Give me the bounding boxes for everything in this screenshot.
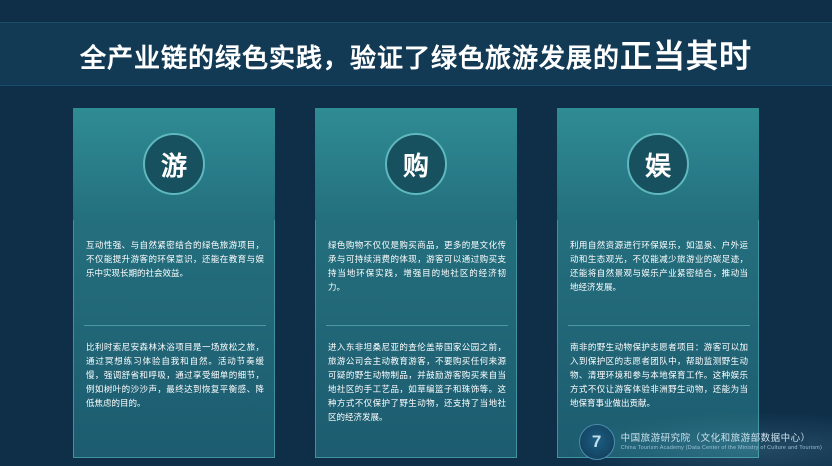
column-you: 游 互动性强、与自然紧密结合的绿色旅游项目，不仅能提升游客的环保意识，还能在教育… [73, 108, 275, 458]
column-you-paragraph-bottom: 比利时索尼安森林沐浴项目是一场放松之旅，通过冥想练习体验自我和自然。活动节奏缓慢… [74, 330, 276, 420]
organization-footer: 7 中国旅游研究院（文化和旅游部数据中心） China Tourism Acad… [579, 424, 822, 460]
circle-badge-icon: 购 [385, 133, 447, 195]
column-you-paragraph-top: 互动性强、与自然紧密结合的绿色旅游项目，不仅能提升游客的环保意识，还能在教育与娱… [74, 228, 276, 290]
column-gou-header: 购 [315, 108, 517, 220]
column-gou-paragraph-bottom: 进入东非坦桑尼亚的查伦盖蒂国家公园之前，旅游公司会主动教育游客，不要购买任何来源… [316, 330, 518, 434]
column-yu-badge-label: 娱 [645, 146, 671, 183]
circle-badge-icon: 娱 [627, 133, 689, 195]
logo-glyph: 7 [592, 432, 601, 452]
page-title-main: 全产业链的绿色实践，验证了绿色旅游发展的 [80, 43, 620, 73]
page-title-emphasis: 正当其时 [620, 38, 752, 74]
column-gou-paragraph-top: 绿色购物不仅仅是购买商品，更多的是文化传承与可持续消费的体现，游客可以通过购买支… [316, 228, 518, 304]
slide-header: 全产业链的绿色实践，验证了绿色旅游发展的正当其时 [0, 22, 832, 86]
organization-name: 中国旅游研究院（文化和旅游部数据中心） China Tourism Academ… [621, 433, 822, 452]
circle-badge-icon: 游 [143, 133, 205, 195]
slide: 全产业链的绿色实践，验证了绿色旅游发展的正当其时 游 互动性强、与自然紧密结合的… [0, 0, 832, 466]
column-yu-body: 利用自然资源进行环保娱乐，如温泉、户外运动和生态观光，不仅能减少旅游业的碳足迹，… [557, 220, 759, 458]
content-columns: 游 互动性强、与自然紧密结合的绿色旅游项目，不仅能提升游客的环保意识，还能在教育… [0, 108, 832, 458]
page-title: 全产业链的绿色实践，验证了绿色旅游发展的正当其时 [80, 31, 752, 77]
column-gou-divider [326, 325, 508, 326]
column-yu-paragraph-bottom: 南非的野生动物保护志愿者项目：游客可以加入到保护区的志愿者团队中，帮助监测野生动… [558, 330, 760, 420]
organization-name-cn: 中国旅游研究院（文化和旅游部数据中心） [621, 433, 822, 445]
column-you-body: 互动性强、与自然紧密结合的绿色旅游项目，不仅能提升游客的环保意识，还能在教育与娱… [73, 220, 275, 458]
organization-logo-icon: 7 [579, 424, 615, 460]
column-you-header: 游 [73, 108, 275, 220]
column-yu-divider [568, 325, 750, 326]
column-you-divider [84, 325, 266, 326]
column-you-badge-label: 游 [161, 146, 187, 183]
column-gou: 购 绿色购物不仅仅是购买商品，更多的是文化传承与可持续消费的体现，游客可以通过购… [315, 108, 517, 458]
column-gou-body: 绿色购物不仅仅是购买商品，更多的是文化传承与可持续消费的体现，游客可以通过购买支… [315, 220, 517, 458]
column-yu-paragraph-top: 利用自然资源进行环保娱乐，如温泉、户外运动和生态观光，不仅能减少旅游业的碳足迹，… [558, 228, 760, 304]
column-yu-header: 娱 [557, 108, 759, 220]
column-yu: 娱 利用自然资源进行环保娱乐，如温泉、户外运动和生态观光，不仅能减少旅游业的碳足… [557, 108, 759, 458]
organization-name-en: China Tourism Academy (Data Center of th… [621, 445, 822, 452]
column-gou-badge-label: 购 [403, 146, 429, 183]
